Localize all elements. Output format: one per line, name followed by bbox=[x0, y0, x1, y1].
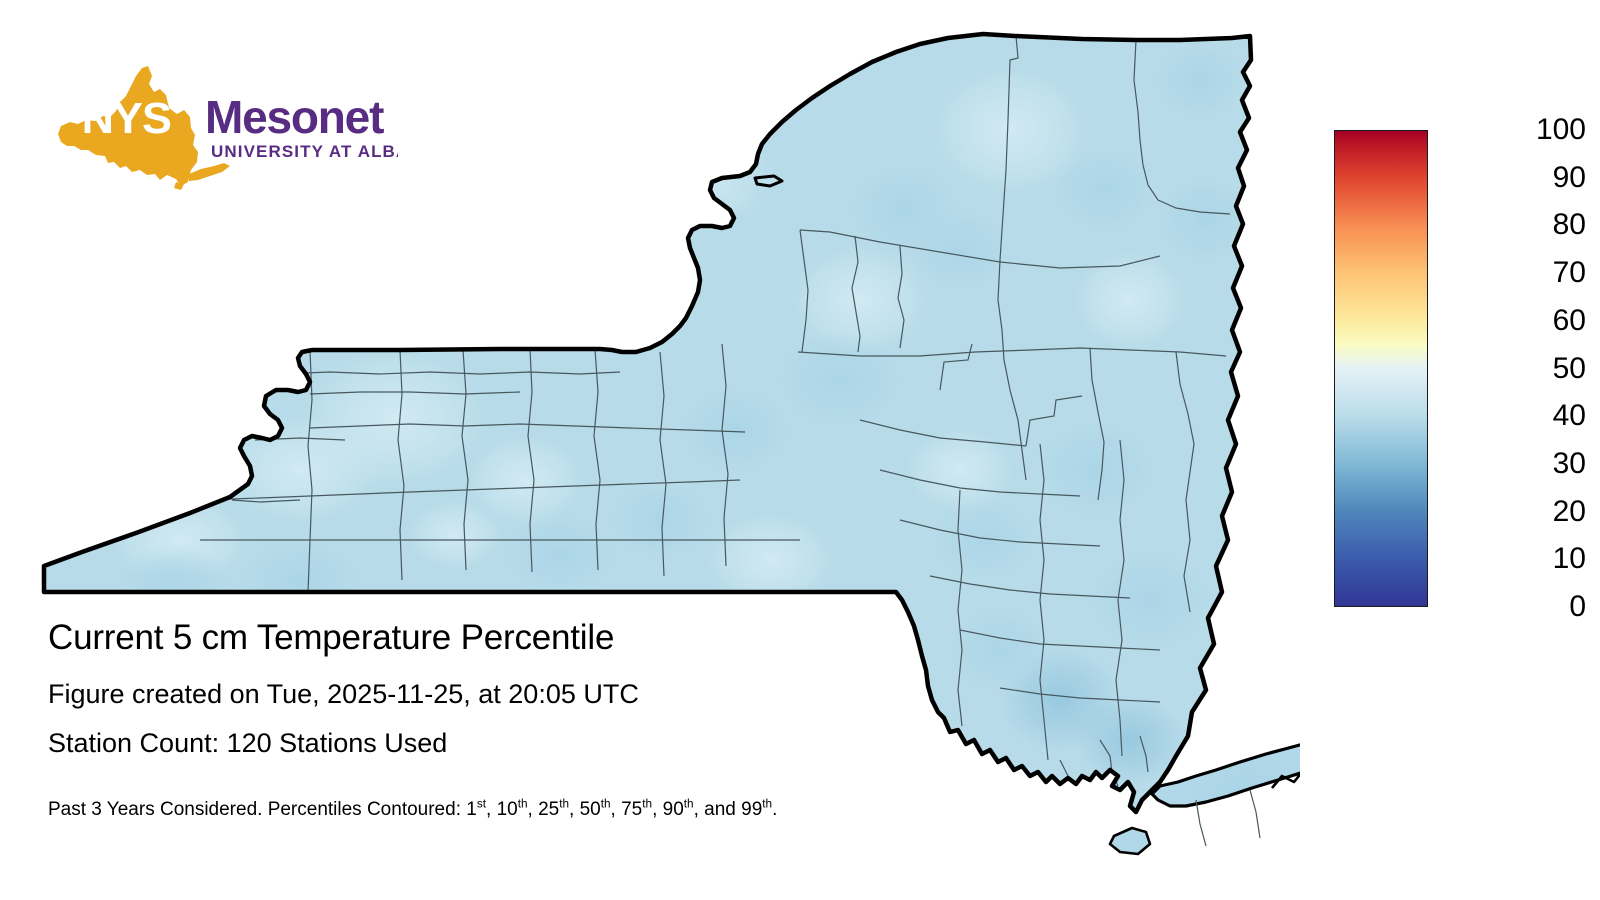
footnote-value: 50 bbox=[580, 799, 601, 820]
figure-timestamp: Figure created on Tue, 2025-11-25, at 20… bbox=[48, 681, 1048, 708]
colorbar-tick: 10 bbox=[1434, 544, 1586, 574]
footnote-ordinal: th bbox=[559, 798, 569, 811]
colorbar-tick: 0 bbox=[1434, 592, 1586, 622]
page-title: Current 5 cm Temperature Percentile bbox=[48, 620, 1048, 655]
footnote-ordinal: th bbox=[684, 798, 694, 811]
caption-block: Current 5 cm Temperature Percentile Figu… bbox=[48, 620, 1048, 819]
footnote-ordinal: th bbox=[762, 798, 772, 811]
colorbar: 100 90 80 70 60 50 40 30 20 10 0 bbox=[1334, 130, 1584, 610]
footnote-sep: , bbox=[569, 799, 580, 820]
footnote-sep: , bbox=[611, 799, 622, 820]
colorbar-tick: 40 bbox=[1434, 401, 1586, 431]
percentile-footnote: Past 3 Years Considered. Percentiles Con… bbox=[48, 800, 1048, 819]
footnote-ordinal: st bbox=[477, 798, 486, 811]
footnote-sep: , bbox=[486, 799, 497, 820]
footnote-value: 75 bbox=[621, 799, 642, 820]
colorbar-gradient bbox=[1334, 130, 1428, 607]
colorbar-tick: 100 bbox=[1434, 115, 1586, 145]
colorbar-tick: 50 bbox=[1434, 354, 1586, 384]
footnote-value: 10 bbox=[497, 799, 518, 820]
footnote-sep: , bbox=[652, 799, 663, 820]
footnote-ordinal: th bbox=[642, 798, 652, 811]
footnote-value: 99 bbox=[741, 799, 762, 820]
footnote-value: 90 bbox=[663, 799, 684, 820]
footnote-ordinal: th bbox=[601, 798, 611, 811]
footnote-ordinal: th bbox=[518, 798, 528, 811]
colorbar-tick: 90 bbox=[1434, 163, 1586, 193]
colorbar-tick: 20 bbox=[1434, 497, 1586, 527]
colorbar-tick: 60 bbox=[1434, 306, 1586, 336]
colorbar-tick: 80 bbox=[1434, 210, 1586, 240]
colorbar-tick-labels: 100 90 80 70 60 50 40 30 20 10 0 bbox=[1434, 130, 1584, 607]
station-count: Station Count: 120 Stations Used bbox=[48, 730, 1048, 757]
footnote-value: 25 bbox=[538, 799, 559, 820]
colorbar-tick: 30 bbox=[1434, 449, 1586, 479]
colorbar-tick: 70 bbox=[1434, 258, 1586, 288]
footnote-sep: , bbox=[528, 799, 539, 820]
footnote-value: 1 bbox=[466, 799, 477, 820]
footnote-sep: , and bbox=[694, 799, 742, 820]
footnote-end: . bbox=[772, 799, 777, 820]
footnote-prefix: Past 3 Years Considered. Percentiles Con… bbox=[48, 799, 466, 820]
